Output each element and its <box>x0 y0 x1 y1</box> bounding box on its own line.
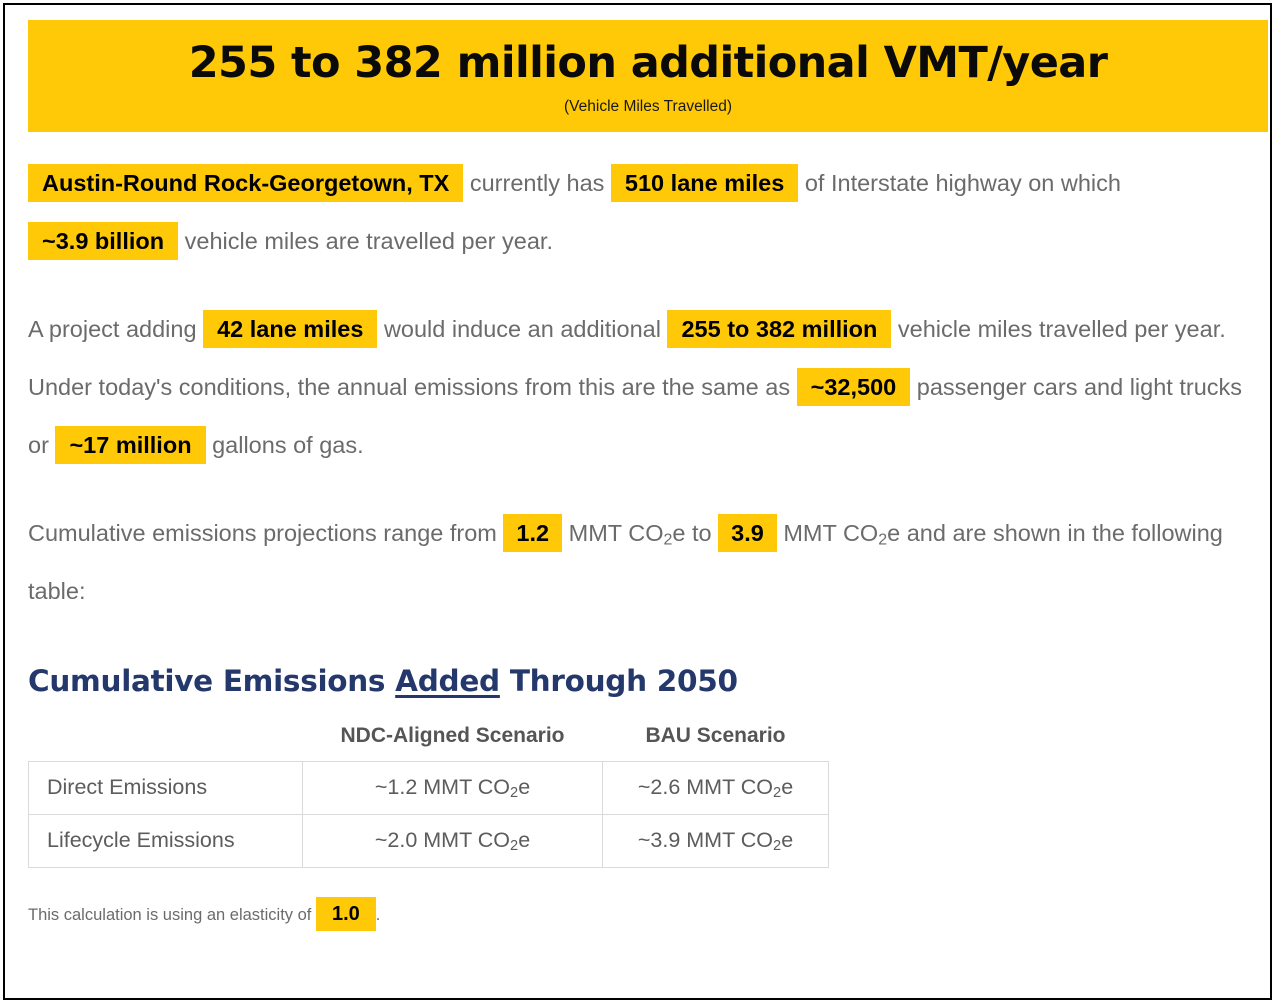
highlight-lane-miles-existing: 510 lane miles <box>611 164 798 202</box>
row-label-lifecycle: Lifecycle Emissions <box>29 814 303 867</box>
headline-banner: 255 to 382 million additional VMT/year (… <box>28 20 1268 132</box>
text-paragraph3-start: Cumulative emissions projections range f… <box>28 520 497 546</box>
text-paragraph3-mid: to <box>692 520 712 546</box>
highlight-metro-area: Austin-Round Rock-Georgetown, TX <box>28 164 463 202</box>
column-header-blank <box>29 724 303 762</box>
text-paragraph2-start: A project adding <box>28 316 197 342</box>
footnote-text-start: This calculation is using an elasticity … <box>28 906 311 924</box>
table-row: Direct Emissions ~1.2 MMT CO2e ~2.6 MMT … <box>29 761 829 814</box>
cell-value-text: ~2.6 MMT CO <box>638 775 773 799</box>
highlight-cars-equivalent: ~32,500 <box>797 368 911 406</box>
paragraph-induced-demand: A project adding 42 lane miles would ind… <box>28 300 1253 474</box>
highlight-gas-equivalent: ~17 million <box>55 426 205 464</box>
text-after-lane-miles: of Interstate highway on which <box>805 170 1121 196</box>
unit-mmt-co2e-high: MMT CO2e <box>783 520 900 546</box>
paragraph-existing-conditions: Austin-Round Rock-Georgetown, TX current… <box>28 154 1253 270</box>
cell-value-text: ~2.0 MMT CO <box>375 828 510 852</box>
paragraph-cumulative-range: Cumulative emissions projections range f… <box>28 504 1253 620</box>
heading-part-before: Cumulative Emissions <box>28 664 395 698</box>
elasticity-footnote: This calculation is using an elasticity … <box>28 894 1265 935</box>
section-heading: Cumulative Emissions Added Through 2050 <box>28 664 1265 698</box>
emissions-table-wrapper: NDC-Aligned Scenario BAU Scenario Direct… <box>28 724 828 868</box>
cell-lifecycle-bau: ~3.9 MMT CO2e <box>603 814 829 867</box>
text-after-metro: currently has <box>470 170 605 196</box>
cell-direct-ndc: ~1.2 MMT CO2e <box>303 761 603 814</box>
cell-value-subscript: 2 <box>510 785 518 801</box>
highlight-lane-miles-added: 42 lane miles <box>203 310 377 348</box>
cell-value-text: ~3.9 MMT CO <box>638 828 773 852</box>
page-content: 255 to 382 million additional VMT/year (… <box>5 5 1270 998</box>
cell-value-tail: e <box>781 828 793 852</box>
unit-text: MMT CO <box>569 520 664 546</box>
highlight-range-high: 3.9 <box>718 514 777 552</box>
cell-lifecycle-ndc: ~2.0 MMT CO2e <box>303 814 603 867</box>
footnote-text-end: . <box>376 906 381 924</box>
unit-mmt-co2e-low: MMT CO2e <box>569 520 686 546</box>
unit-tail: e <box>672 520 685 546</box>
highlight-range-low: 1.2 <box>503 514 562 552</box>
cell-value-tail: e <box>518 828 530 852</box>
unit-subscript: 2 <box>878 531 887 548</box>
cell-value-tail: e <box>781 775 793 799</box>
unit-tail: e <box>887 520 900 546</box>
heading-part-underlined: Added <box>395 664 500 698</box>
text-paragraph2-mid1: would induce an additional <box>384 316 661 342</box>
cell-value-subscript: 2 <box>773 838 781 854</box>
text-paragraph1-end: vehicle miles are travelled per year. <box>185 228 553 254</box>
heading-part-after: Through 2050 <box>500 664 738 698</box>
highlight-vmt-existing: ~3.9 billion <box>28 222 178 260</box>
column-header-bau: BAU Scenario <box>603 724 829 762</box>
page-frame: 255 to 382 million additional VMT/year (… <box>3 3 1272 1000</box>
cell-value-subscript: 2 <box>773 785 781 801</box>
highlight-elasticity: 1.0 <box>316 897 376 931</box>
cell-value-text: ~1.2 MMT CO <box>375 775 510 799</box>
unit-text: MMT CO <box>783 520 878 546</box>
highlight-vmt-induced: 255 to 382 million <box>667 310 891 348</box>
banner-title: 255 to 382 million additional VMT/year <box>38 38 1258 89</box>
cell-value-subscript: 2 <box>510 838 518 854</box>
text-paragraph2-end: gallons of gas. <box>212 432 364 458</box>
cell-direct-bau: ~2.6 MMT CO2e <box>603 761 829 814</box>
table-row: Lifecycle Emissions ~2.0 MMT CO2e ~3.9 M… <box>29 814 829 867</box>
table-header-row: NDC-Aligned Scenario BAU Scenario <box>29 724 829 762</box>
column-header-ndc: NDC-Aligned Scenario <box>303 724 603 762</box>
row-label-direct: Direct Emissions <box>29 761 303 814</box>
banner-subtitle: (Vehicle Miles Travelled) <box>38 98 1258 116</box>
emissions-table: NDC-Aligned Scenario BAU Scenario Direct… <box>28 724 829 868</box>
cell-value-tail: e <box>518 775 530 799</box>
